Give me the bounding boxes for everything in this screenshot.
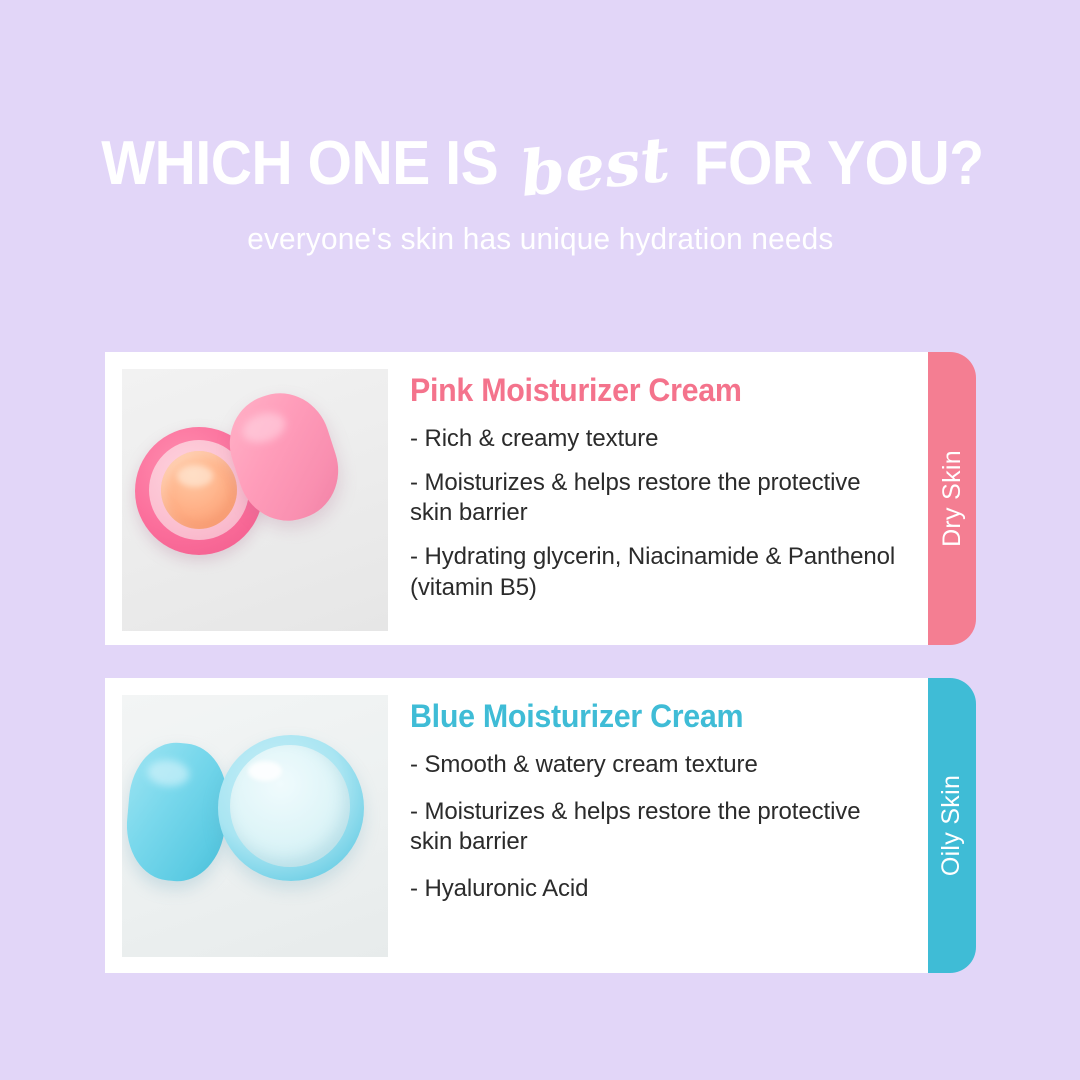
skin-type-tab-dry[interactable]: Dry Skin [928,352,976,645]
product-bullet: - Hyaluronic Acid [410,874,909,904]
skin-type-tab-label: Oily Skin [938,775,967,876]
product-title-blue: Blue Moisturizer Cream [410,700,884,734]
blue-jar-lid-icon [122,739,232,885]
product-photo-blue [122,695,388,957]
photo-background [122,369,388,631]
product-title-pink: Pink Moisturizer Cream [410,374,884,408]
product-card-blue[interactable]: Blue Moisturizer Cream - Smooth & watery… [105,678,933,973]
title-segment-2: FOR YOU? [694,133,984,195]
photo-background [122,695,388,957]
title-script-word: best [507,127,682,206]
blue-jar-base-icon [218,735,364,881]
pink-cream-surface-icon [161,451,237,529]
page-subtitle: everyone's skin has unique hydration nee… [247,221,833,257]
product-photo-pink [122,369,388,631]
product-card-pink[interactable]: Pink Moisturizer Cream - Rich & creamy t… [105,352,933,645]
card-body-pink: Pink Moisturizer Cream - Rich & creamy t… [388,352,933,617]
blue-cream-surface-icon [230,745,350,867]
title-segment-1: WHICH ONE IS [101,133,498,195]
product-bullet: - Moisturizes & helps restore the protec… [410,468,909,528]
product-bullet: - Smooth & watery cream texture [410,750,909,780]
product-bullet: - Hydrating glycerin, Niacinamide & Pant… [410,542,909,602]
product-bullet: - Moisturizes & helps restore the protec… [410,797,909,857]
page-title: WHICH ONE IS best FOR YOU? [84,132,997,195]
skin-type-tab-oily[interactable]: Oily Skin [928,678,976,973]
product-bullet: - Rich & creamy texture [410,424,909,454]
card-body-blue: Blue Moisturizer Cream - Smooth & watery… [388,678,933,922]
header: WHICH ONE IS best FOR YOU? everyone's sk… [0,0,1080,330]
skin-type-tab-label: Dry Skin [938,450,967,547]
